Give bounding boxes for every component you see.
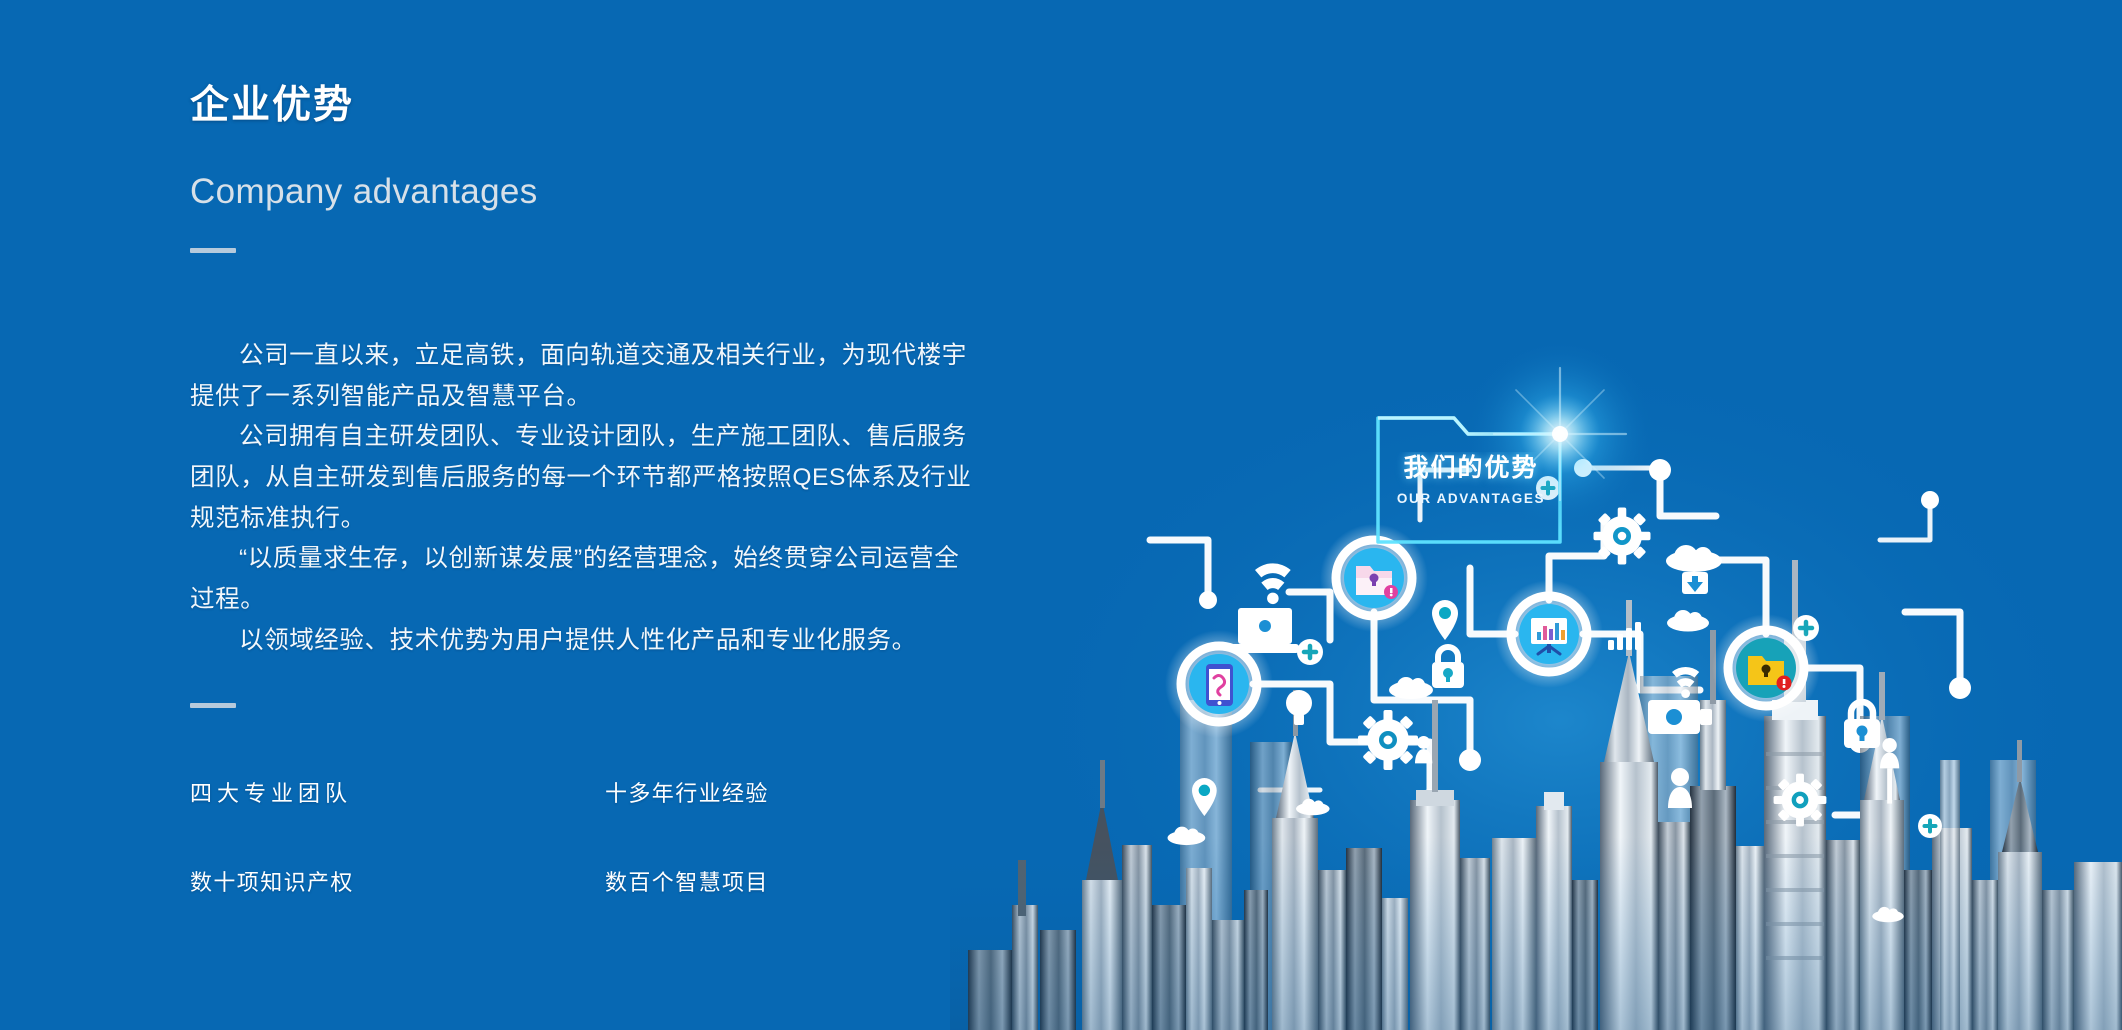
stats-grid: 四大专业团队 十多年行业经验 数十项知识产权 数百个智慧项目 — [190, 776, 950, 897]
person-icon — [1668, 768, 1692, 808]
person-icon — [1415, 736, 1432, 763]
signal-bars-icon — [1608, 622, 1641, 650]
paragraph: 公司拥有自主研发团队、专业设计团队，生产施工团队、售后服务团队，从自主研发到售后… — [190, 417, 980, 539]
folder-lock-icon-node — [1712, 614, 1820, 722]
divider-top — [190, 248, 236, 253]
paragraph: 公司一直以来，立足高铁，面向轨道交通及相关行业，为现代楼宇提供了一系列智能产品及… — [190, 336, 980, 417]
badge-title-en: OUR ADVANTAGES — [1378, 492, 1564, 506]
stat-item-experience: 十多年行业经验 — [605, 776, 950, 808]
cloud-icon — [1389, 677, 1433, 699]
gear-icon — [1358, 710, 1418, 770]
plus-node-icon — [1793, 615, 1819, 641]
company-advantages-content: 企业优势 Company advantages 公司一直以来，立足高铁，面向轨道… — [190, 0, 1010, 897]
chart-presentation-icon-node — [1495, 580, 1603, 688]
cloud-upload-icon — [1666, 545, 1722, 594]
stat-item-patents: 数十项知识产权 — [190, 865, 605, 897]
stat-item-teams: 四大专业团队 — [190, 776, 605, 808]
body-copy: 公司一直以来，立足高铁，面向轨道交通及相关行业，为现代楼宇提供了一系列智能产品及… — [190, 336, 1010, 661]
cloud-icon — [1667, 610, 1709, 632]
stat-item-projects: 数百个智慧项目 — [605, 865, 950, 897]
cityscape — [950, 560, 2122, 1030]
camera-icon — [1648, 700, 1712, 734]
smartphone-call-icon-node — [1165, 630, 1273, 738]
map-pin-icon — [1192, 778, 1217, 816]
plus-node-icon — [1536, 476, 1560, 500]
person-icon — [1880, 738, 1899, 804]
wifi-icon — [1255, 563, 1291, 604]
divider-bottom — [190, 703, 236, 708]
plus-node-icon — [1297, 639, 1323, 665]
map-pin-icon — [1432, 600, 1458, 640]
gear-icon — [1594, 508, 1651, 565]
paragraph: “以质量求生存，以创新谋发展”的经营理念，始终贯穿公司运营全过程。 — [190, 539, 980, 620]
cloud-icon — [1168, 827, 1206, 845]
plus-node-icon — [1918, 814, 1942, 838]
badge-title-cn: 我们的优势 — [1378, 456, 1564, 481]
page-title: 企业优势 — [190, 86, 1010, 125]
page-subtitle: Company advantages — [190, 174, 1010, 209]
lock-icon — [1844, 702, 1880, 748]
divider-bottom-wrap — [190, 703, 1010, 708]
paragraph: 以领域经验、技术优势为用户提供人性化产品和专业化服务。 — [190, 621, 980, 662]
lightbulb-icon — [1286, 690, 1312, 725]
cloud-icon — [1296, 799, 1330, 815]
cloud-icon — [1872, 907, 1904, 922]
laptop-icon — [1231, 608, 1299, 653]
lock-icon — [1432, 647, 1464, 688]
wifi-icon — [1672, 667, 1699, 698]
gear-icon — [1774, 774, 1827, 827]
our-advantages-badge: 我们的优势 OUR ADVANTAGES — [1378, 338, 1656, 542]
folder-document-icon-node — [1320, 524, 1428, 632]
